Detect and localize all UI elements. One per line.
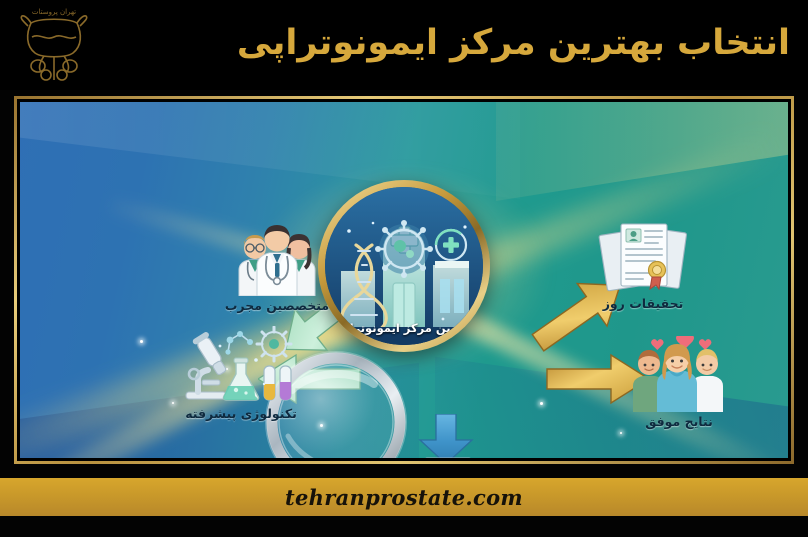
node-results[interactable]: نتایج موفق (604, 334, 754, 429)
node-research-bottom[interactable]: تحقیقات روز (384, 452, 534, 458)
certificate-documents-icon (384, 452, 534, 458)
infographic-stage: بهترین مرکز ایمونوتراپی (20, 102, 788, 458)
logo-caption: تهران پروستات (32, 8, 76, 16)
node-technology-label: تکنولوژی پیشرفته (166, 406, 316, 421)
infographic-frame: بهترین مرکز ایمونوتراپی (14, 96, 794, 464)
research-documents-icon (568, 216, 718, 294)
sparkle-icon (140, 340, 143, 343)
doctors-team-icon (202, 218, 352, 296)
logo-icon: تهران پروستات (8, 4, 100, 86)
page-title: انتخاب بهترین مرکز ایمونوتراپی (90, 14, 790, 72)
node-technology[interactable]: تکنولوژی پیشرفته (166, 326, 316, 421)
footer-bar: tehranprostate.com (0, 478, 808, 516)
sparkle-icon (540, 402, 543, 405)
tehran-prostate-logo: تهران پروستات (8, 4, 100, 86)
node-specialists[interactable]: متخصصین مجرب (202, 218, 352, 313)
lab-equipment-icon (166, 326, 316, 404)
node-research-top-label: تحقیقات روز (568, 296, 718, 311)
website-url[interactable]: tehranprostate.com (0, 478, 808, 516)
header-bar: تهران پروستات انتخاب بهترین مرکز ایمونوت… (0, 0, 808, 90)
sparkle-icon (620, 432, 622, 434)
bg-sheet-top-left (20, 102, 519, 199)
node-results-label: نتایج موفق (604, 414, 754, 429)
node-research-top[interactable]: تحقیقات روز (568, 216, 718, 311)
node-specialists-label: متخصصین مجرب (202, 298, 352, 313)
center-badge-label: بهترین مرکز ایمونوتراپی (325, 321, 483, 335)
happy-patients-icon (604, 334, 754, 412)
bg-sheet-top-right (496, 102, 788, 201)
